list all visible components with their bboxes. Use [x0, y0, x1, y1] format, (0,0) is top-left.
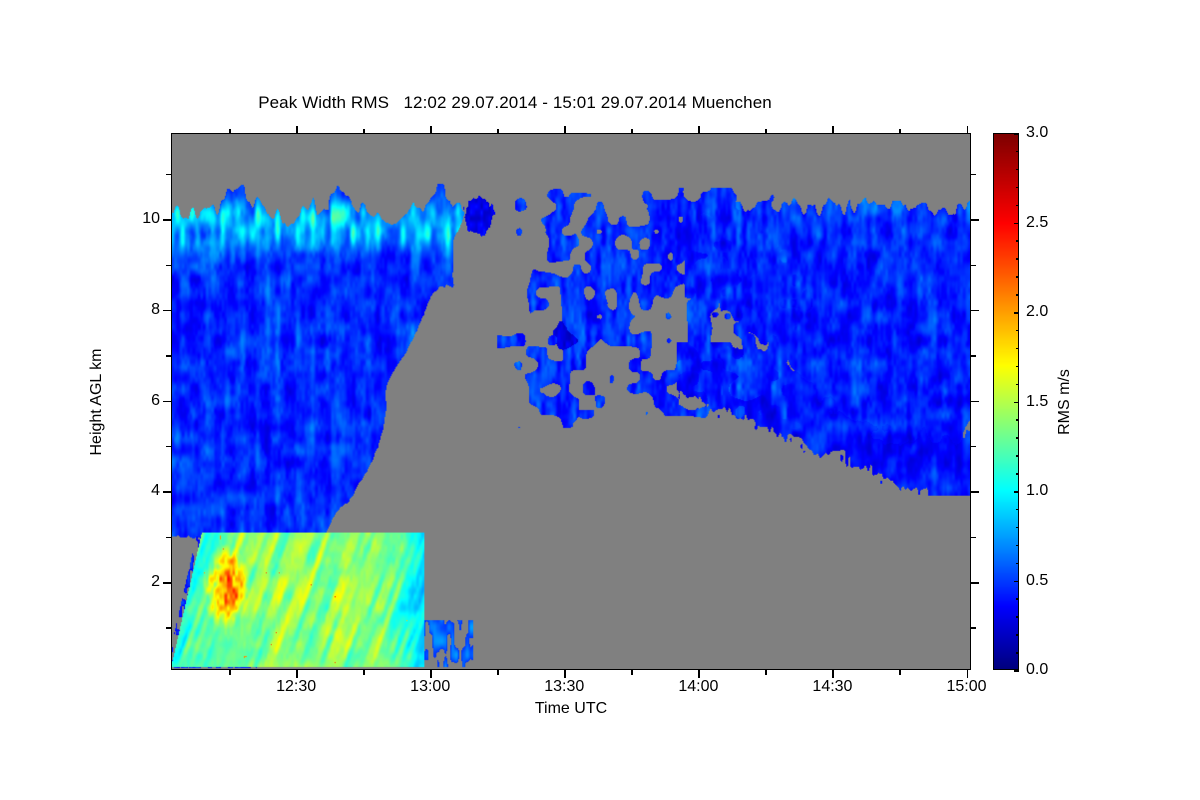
x-axis-tick-major-top — [698, 126, 700, 134]
x-axis-tick-major — [967, 670, 969, 678]
colorbar-tick-minor — [1016, 366, 1019, 368]
colorbar-title: RMS m/s — [1056, 369, 1074, 435]
x-axis-tick-minor — [497, 670, 499, 675]
y-axis-tick-minor-right — [971, 446, 976, 448]
colorbar-tick-label: 0.0 — [1026, 661, 1048, 679]
y-axis-tick-minor-right — [971, 265, 976, 267]
colorbar-tick-minor — [1016, 598, 1019, 600]
y-axis-tick-major-right — [971, 491, 979, 493]
colorbar-tick-minor — [1016, 455, 1019, 457]
y-axis-tick-major-right — [971, 582, 979, 584]
y-axis-tick-minor — [166, 355, 171, 357]
y-axis-tick-major — [163, 401, 171, 403]
colorbar-tick-minor — [1016, 634, 1019, 636]
colorbar-tick-minor — [1016, 527, 1019, 529]
colorbar-tick — [1014, 312, 1019, 314]
colorbar-tick-minor — [1016, 616, 1019, 618]
y-axis-tick-minor — [166, 627, 171, 629]
y-axis-tick-label: 10 — [142, 210, 160, 228]
y-axis-tick-minor — [166, 265, 171, 267]
x-axis-tick-major-top — [296, 126, 298, 134]
colorbar-tick-minor — [1016, 205, 1019, 207]
colorbar-tick — [1014, 670, 1019, 672]
y-axis-tick-major-right — [971, 219, 979, 221]
x-axis-tick-major — [430, 670, 432, 678]
heatmap-data-canvas — [172, 134, 970, 669]
colorbar-tick-minor — [1016, 509, 1019, 511]
y-axis-tick-major — [163, 582, 171, 584]
colorbar-tick-minor — [1016, 473, 1019, 475]
x-axis-tick-label: 14:00 — [678, 678, 718, 696]
colorbar-tick-minor — [1016, 437, 1019, 439]
x-axis-tick-minor-top — [899, 129, 901, 134]
colorbar-tick-minor — [1016, 276, 1019, 278]
colorbar-tick — [1014, 402, 1019, 404]
x-axis-tick-minor — [363, 670, 365, 675]
y-axis-tick-major-right — [971, 401, 979, 403]
colorbar-tick-minor — [1016, 151, 1019, 153]
colorbar-tick-label: 2.5 — [1026, 214, 1048, 232]
x-axis-tick-minor-top — [631, 129, 633, 134]
x-axis-tick-major — [296, 670, 298, 678]
x-axis-tick-label: 15:00 — [946, 678, 986, 696]
x-axis-tick-major-top — [564, 126, 566, 134]
colorbar-tick-minor — [1016, 330, 1019, 332]
colorbar-tick — [1014, 133, 1019, 135]
x-axis-tick-major — [832, 670, 834, 678]
x-axis-tick-minor — [765, 670, 767, 675]
y-axis-tick-minor-right — [971, 537, 976, 539]
x-axis-tick-label: 12:30 — [276, 678, 316, 696]
x-axis-tick-minor-top — [497, 129, 499, 134]
colorbar-tick — [1014, 581, 1019, 583]
x-axis-tick-major — [698, 670, 700, 678]
x-axis-tick-major-top — [832, 126, 834, 134]
colorbar-tick-minor — [1016, 258, 1019, 260]
x-axis-tick-minor — [631, 670, 633, 675]
y-axis-tick-minor — [166, 446, 171, 448]
y-axis-tick-major-right — [971, 310, 979, 312]
x-axis-tick-label: 13:30 — [544, 678, 584, 696]
colorbar-tick-label: 0.5 — [1026, 572, 1048, 590]
y-axis-tick-major — [163, 310, 171, 312]
x-axis-title: Time UTC — [535, 700, 607, 718]
x-axis-tick-label: 13:00 — [410, 678, 450, 696]
x-axis-tick-minor-top — [229, 129, 231, 134]
colorbar-tick-minor — [1016, 419, 1019, 421]
y-axis-tick-major — [163, 491, 171, 493]
colorbar-tick-minor — [1016, 169, 1019, 171]
page-title: Peak Width RMS 12:02 29.07.2014 - 15:01 … — [0, 93, 1030, 113]
x-axis-tick-label: 14:30 — [812, 678, 852, 696]
heatmap-plot-area[interactable] — [171, 133, 971, 670]
colorbar-tick-minor — [1016, 491, 1019, 493]
y-axis-tick-minor-right — [971, 174, 976, 176]
y-axis-tick-minor-right — [971, 355, 976, 357]
y-axis-tick-label: 8 — [151, 301, 160, 319]
x-axis-tick-minor — [229, 670, 231, 675]
colorbar-tick — [1014, 223, 1019, 225]
x-axis-tick-minor-top — [765, 129, 767, 134]
colorbar-tick-minor — [1016, 563, 1019, 565]
colorbar-tick-minor — [1016, 384, 1019, 386]
x-axis-tick-major-top — [967, 126, 969, 134]
y-axis-title: Height AGL km — [88, 348, 106, 455]
y-axis-tick-minor — [166, 174, 171, 176]
y-axis-tick-label: 6 — [151, 392, 160, 410]
y-axis-tick-label: 4 — [151, 482, 160, 500]
colorbar-tick-minor — [1016, 348, 1019, 350]
y-axis-tick-major — [163, 219, 171, 221]
colorbar-tick-minor — [1016, 545, 1019, 547]
x-axis-tick-major-top — [430, 126, 432, 134]
x-axis-tick-major — [564, 670, 566, 678]
figure-canvas: Peak Width RMS 12:02 29.07.2014 - 15:01 … — [0, 0, 1200, 800]
x-axis-tick-minor-top — [363, 129, 365, 134]
colorbar-tick-label: 3.0 — [1026, 124, 1048, 142]
colorbar-tick-label: 2.0 — [1026, 303, 1048, 321]
y-axis-tick-label: 2 — [151, 573, 160, 591]
colorbar-tick-label: 1.5 — [1026, 393, 1048, 411]
colorbar-tick-label: 1.0 — [1026, 482, 1048, 500]
y-axis-tick-minor — [166, 537, 171, 539]
colorbar-tick-minor — [1016, 652, 1019, 654]
y-axis-tick-minor-right — [971, 627, 976, 629]
colorbar-tick-minor — [1016, 294, 1019, 296]
colorbar-tick-minor — [1016, 187, 1019, 189]
x-axis-tick-minor — [899, 670, 901, 675]
colorbar-tick-minor — [1016, 240, 1019, 242]
